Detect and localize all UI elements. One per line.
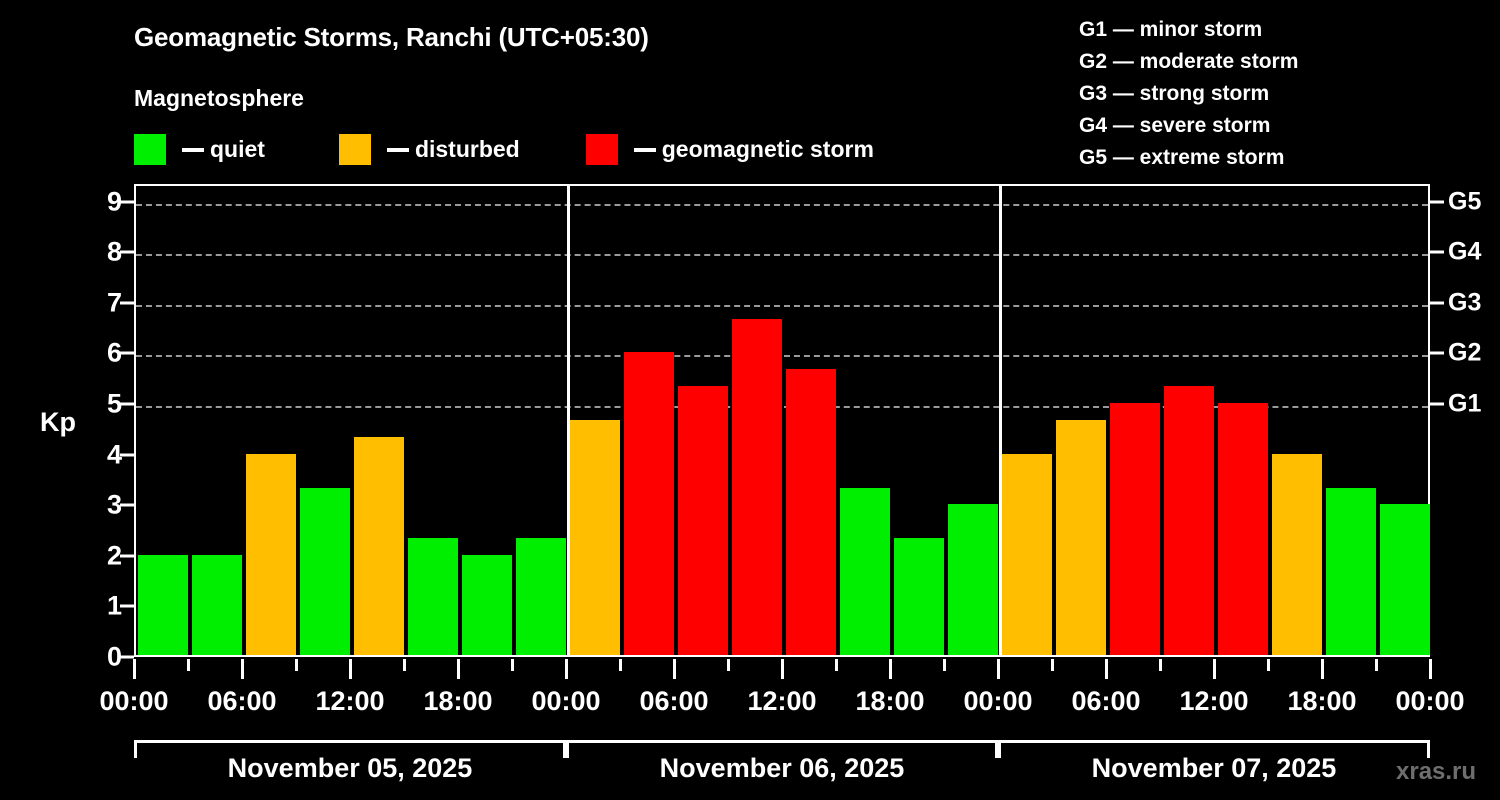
x-tick-label: 18:00: [423, 686, 492, 717]
x-tick-mark: [1159, 659, 1162, 671]
y-tick-mark-9: [120, 200, 134, 203]
kp-bar[interactable]: [138, 555, 188, 655]
y-tick-label-3: 3: [82, 490, 122, 521]
x-tick-mark: [943, 659, 946, 671]
plot-area: [134, 184, 1430, 657]
x-tick-mark: [1105, 659, 1108, 679]
legend-swatch-storm-icon: [586, 134, 618, 165]
x-tick-mark: [619, 659, 622, 671]
g-legend-row-5: G5 — extreme storm: [1079, 142, 1298, 174]
x-tick-label: 12:00: [747, 686, 816, 717]
x-tick-mark: [403, 659, 406, 671]
legend-item-disturbed: disturbed: [339, 134, 520, 165]
y-tick-label-7: 7: [82, 287, 122, 318]
x-tick-label: 12:00: [1179, 686, 1248, 717]
g-tick-mark-G1: [1430, 403, 1444, 406]
y-tick-mark-1: [120, 605, 134, 608]
x-tick-label: 00:00: [531, 686, 600, 717]
g-tick-mark-G5: [1430, 200, 1444, 203]
day-label-1: November 05, 2025: [228, 753, 473, 784]
page-title: Geomagnetic Storms, Ranchi (UTC+05:30): [134, 22, 649, 53]
y-tick-mark-8: [120, 251, 134, 254]
kp-bar[interactable]: [624, 352, 674, 655]
kp-bar[interactable]: [462, 555, 512, 655]
x-tick-label: 06:00: [207, 686, 276, 717]
kp-bar[interactable]: [678, 386, 728, 655]
x-tick-mark: [565, 659, 568, 679]
x-tick-mark: [835, 659, 838, 671]
kp-bar[interactable]: [1218, 403, 1268, 655]
y-tick-mark-2: [120, 554, 134, 557]
kp-bar[interactable]: [192, 555, 242, 655]
x-tick-mark: [511, 659, 514, 671]
legend-dash-icon: [182, 148, 204, 152]
g-tick-label-G5: G5: [1448, 187, 1481, 216]
x-tick-mark: [1429, 659, 1432, 679]
legend-swatch-disturbed-icon: [339, 134, 371, 165]
kp-bar[interactable]: [516, 538, 566, 655]
kp-bar[interactable]: [786, 369, 836, 655]
kp-bar[interactable]: [408, 538, 458, 655]
kp-bar[interactable]: [1056, 420, 1106, 655]
g-tick-label-G2: G2: [1448, 339, 1481, 368]
g-tick-mark-G3: [1430, 301, 1444, 304]
y-tick-mark-6: [120, 352, 134, 355]
x-tick-mark: [241, 659, 244, 679]
g-tick-label-G1: G1: [1448, 390, 1481, 419]
x-tick-mark: [889, 659, 892, 679]
x-tick-mark: [1051, 659, 1054, 671]
g-tick-mark-G2: [1430, 352, 1444, 355]
kp-bar[interactable]: [1380, 504, 1430, 655]
y-tick-mark-4: [120, 453, 134, 456]
kp-bar[interactable]: [246, 454, 296, 655]
legend-label-disturbed: disturbed: [415, 136, 520, 163]
x-tick-mark: [673, 659, 676, 679]
x-tick-label: 06:00: [1071, 686, 1140, 717]
x-tick-label: 18:00: [1287, 686, 1356, 717]
bars-layer: [136, 186, 1428, 655]
geomagnetic-storm-chart: Geomagnetic Storms, Ranchi (UTC+05:30) M…: [0, 0, 1500, 800]
day-label-2: November 06, 2025: [660, 753, 905, 784]
y-tick-label-6: 6: [82, 338, 122, 369]
y-tick-mark-5: [120, 403, 134, 406]
g-tick-label-G3: G3: [1448, 288, 1481, 317]
x-tick-mark: [295, 659, 298, 671]
g-tick-mark-G4: [1430, 251, 1444, 254]
y-tick-mark-3: [120, 504, 134, 507]
y-tick-label-9: 9: [82, 186, 122, 217]
legend-item-storm: geomagnetic storm: [586, 134, 874, 165]
kp-bar[interactable]: [948, 504, 998, 655]
kp-bar[interactable]: [1110, 403, 1160, 655]
y-tick-label-1: 1: [82, 591, 122, 622]
g-tick-label-G4: G4: [1448, 238, 1481, 267]
x-tick-mark: [133, 659, 136, 679]
y-tick-label-5: 5: [82, 389, 122, 420]
x-tick-mark: [781, 659, 784, 679]
legend-item-quiet: quiet: [134, 134, 265, 165]
x-tick-label: 06:00: [639, 686, 708, 717]
g-legend-row-2: G2 — moderate storm: [1079, 46, 1298, 78]
x-tick-mark: [457, 659, 460, 679]
g-legend-row-1: G1 — minor storm: [1079, 14, 1298, 46]
kp-bar[interactable]: [354, 437, 404, 655]
g-scale-legend: G1 — minor stormG2 — moderate stormG3 — …: [1079, 14, 1298, 174]
g-legend-row-4: G4 — severe storm: [1079, 110, 1298, 142]
x-tick-mark: [1267, 659, 1270, 671]
legend-dash-icon: [634, 148, 656, 152]
kp-bar[interactable]: [732, 319, 782, 655]
x-tick-label: 00:00: [963, 686, 1032, 717]
x-tick-mark: [187, 659, 190, 671]
y-tick-label-4: 4: [82, 439, 122, 470]
x-tick-label: 00:00: [99, 686, 168, 717]
y-tick-label-8: 8: [82, 237, 122, 268]
x-tick-label: 12:00: [315, 686, 384, 717]
x-tick-mark: [1213, 659, 1216, 679]
day-label-3: November 07, 2025: [1092, 753, 1337, 784]
watermark: xras.ru: [1396, 758, 1476, 786]
x-tick-mark: [727, 659, 730, 671]
x-tick-mark: [1321, 659, 1324, 679]
kp-bar[interactable]: [894, 538, 944, 655]
kp-bar[interactable]: [570, 420, 620, 655]
y-tick-label-0: 0: [82, 642, 122, 673]
legend-swatch-quiet-icon: [134, 134, 166, 165]
y-tick-label-2: 2: [82, 540, 122, 571]
magnetosphere-subtitle: Magnetosphere: [134, 85, 304, 112]
kp-bar[interactable]: [1002, 454, 1052, 655]
kp-bar[interactable]: [840, 488, 890, 655]
y-tick-mark-7: [120, 301, 134, 304]
condition-legend: quietdisturbedgeomagnetic storm: [134, 134, 874, 165]
x-tick-label: 18:00: [855, 686, 924, 717]
legend-dash-icon: [387, 148, 409, 152]
x-tick-label: 00:00: [1395, 686, 1464, 717]
legend-label-storm: geomagnetic storm: [662, 136, 874, 163]
y-axis-title: Kp: [40, 407, 76, 438]
x-tick-mark: [997, 659, 1000, 679]
kp-bar[interactable]: [1272, 454, 1322, 655]
kp-bar[interactable]: [1164, 386, 1214, 655]
g-legend-row-3: G3 — strong storm: [1079, 78, 1298, 110]
x-tick-mark: [1375, 659, 1378, 671]
x-tick-mark: [349, 659, 352, 679]
kp-bar[interactable]: [300, 488, 350, 655]
kp-bar[interactable]: [1326, 488, 1376, 655]
legend-label-quiet: quiet: [210, 136, 265, 163]
